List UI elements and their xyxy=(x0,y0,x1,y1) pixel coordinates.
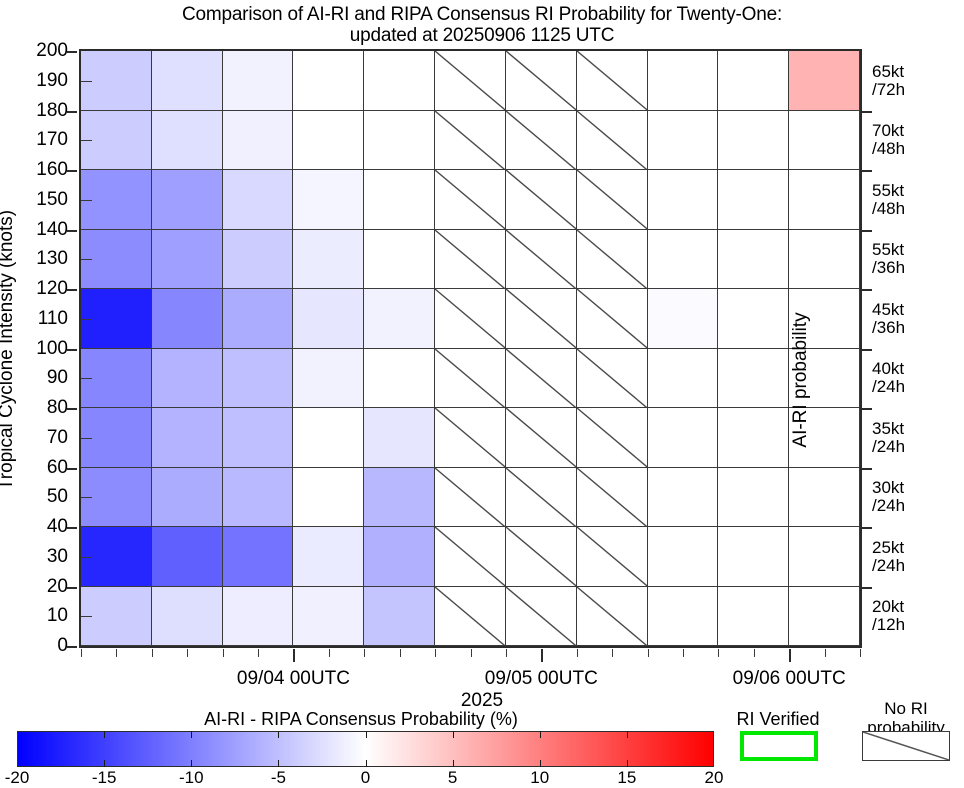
y-axis-tick-label: 190 xyxy=(36,70,68,92)
x-axis-minor-tick xyxy=(577,649,578,657)
heatmap-cell xyxy=(152,51,223,111)
x-axis-major-tick xyxy=(541,649,543,662)
heatmap-cell xyxy=(152,468,223,528)
y-axis-tick-label: 60 xyxy=(47,457,68,479)
heatmap-cell xyxy=(577,468,648,528)
diagonal-hatch-icon xyxy=(506,468,577,528)
heatmap-cell xyxy=(648,468,719,528)
heatmap-cell xyxy=(364,408,435,468)
heatmap-cell xyxy=(577,587,648,647)
y-axis-tick-label: 180 xyxy=(36,100,68,122)
diagonal-hatch-icon xyxy=(435,408,506,468)
y-axis-tick-label: 110 xyxy=(38,308,68,330)
heatmap-cells-container xyxy=(81,51,860,646)
heatmap-cell xyxy=(293,51,364,111)
y-axis-minor-tick xyxy=(81,81,92,82)
heatmap-cell xyxy=(577,170,648,230)
y-axis-tick-label: 90 xyxy=(47,367,68,389)
ri-verified-swatch xyxy=(740,731,818,761)
colorbar-tick-labels: -20-15-10-505101520 xyxy=(0,768,964,788)
heatmap-cell xyxy=(577,289,648,349)
chart-title-line1: Comparison of AI-RI and RIPA Consensus R… xyxy=(0,4,964,25)
heatmap-cell xyxy=(223,230,294,290)
heatmap-cell xyxy=(223,349,294,409)
y-axis-minor-tick xyxy=(81,616,92,617)
x-axis-minor-tick xyxy=(223,649,224,657)
diagonal-hatch-icon xyxy=(506,349,577,409)
heatmap-cell xyxy=(293,349,364,409)
heatmap-cell xyxy=(718,170,789,230)
right-axis-tick-label: 35kt/24h xyxy=(872,420,905,456)
heatmap-cell xyxy=(435,51,506,111)
heatmap-cell xyxy=(364,587,435,647)
heatmap-cell xyxy=(577,527,648,587)
heatmap-cell xyxy=(648,111,719,171)
diagonal-hatch-icon xyxy=(577,349,648,409)
y-axis-major-tick xyxy=(67,349,77,351)
heatmap-cell xyxy=(506,111,577,171)
right-axis-tick-label: 70kt/48h xyxy=(872,122,905,158)
y-axis-major-tick xyxy=(67,111,77,113)
right-axis-tick-kt: 65kt xyxy=(872,63,905,81)
heatmap-cell xyxy=(364,349,435,409)
colorbar-tick-label: 15 xyxy=(617,768,636,788)
right-axis-tick-label: 45kt/36h xyxy=(872,301,905,337)
heatmap-cell xyxy=(789,587,860,647)
diagonal-hatch-icon xyxy=(435,587,506,647)
x-axis-minor-tick xyxy=(364,649,365,657)
x-axis-minor-tick xyxy=(116,649,117,657)
heatmap-cell xyxy=(364,230,435,290)
heatmap-cell xyxy=(364,51,435,111)
diagonal-hatch-icon xyxy=(577,51,648,111)
y-axis-tick-label: 170 xyxy=(36,129,68,151)
colorbar-tick-label: -20 xyxy=(5,768,30,788)
heatmap-cell xyxy=(223,408,294,468)
x-axis-tick-label: 09/05 00UTC xyxy=(485,668,598,690)
heatmap-cell xyxy=(364,170,435,230)
diagonal-hatch-icon xyxy=(577,170,648,230)
right-axis-tick-label: 40kt/24h xyxy=(872,360,905,396)
heatmap-cell xyxy=(152,230,223,290)
heatmap-cell xyxy=(506,349,577,409)
heatmap-cell xyxy=(789,170,860,230)
x-axis-minor-tick xyxy=(648,649,649,657)
diagonal-hatch-icon xyxy=(506,527,577,587)
y-axis-major-tick xyxy=(67,51,77,53)
x-axis-minor-tick xyxy=(718,649,719,657)
heatmap-cell xyxy=(506,587,577,647)
right-axis-tick-kt: 70kt xyxy=(872,122,905,140)
right-axis-tick-label: 55kt/48h xyxy=(872,182,905,218)
right-axis-tick-kt: 45kt xyxy=(872,301,905,319)
no-ri-probability-swatch xyxy=(862,731,950,761)
right-axis-tick-kt: 40kt xyxy=(872,360,905,378)
x-axis-minor-tick xyxy=(506,649,507,657)
heatmap-cell xyxy=(506,468,577,528)
right-axis-tick-kt: 30kt xyxy=(872,479,905,497)
x-axis-major-tick xyxy=(789,649,791,662)
diagonal-hatch-icon xyxy=(435,527,506,587)
x-axis-minor-tick xyxy=(435,649,436,657)
colorbar-tick-label: -10 xyxy=(179,768,204,788)
diagonal-hatch-icon xyxy=(435,170,506,230)
heatmap-cell xyxy=(648,527,719,587)
heatmap-cell xyxy=(648,230,719,290)
y-axis-major-tick xyxy=(67,587,77,589)
heatmap-cell xyxy=(648,170,719,230)
heatmap-cell xyxy=(506,527,577,587)
x-axis-ticks xyxy=(79,649,862,665)
x-axis-minor-tick xyxy=(187,649,188,657)
heatmap-cell xyxy=(506,51,577,111)
heatmap-cell xyxy=(293,111,364,171)
colorbar-tick-label: 0 xyxy=(361,768,370,788)
right-axis-tick-kt: 20kt xyxy=(872,598,905,616)
right-axis-tick-label: 55kt/36h xyxy=(872,241,905,277)
heatmap-cell xyxy=(789,111,860,171)
heatmap-cell xyxy=(223,170,294,230)
heatmap-cell xyxy=(435,468,506,528)
heatmap-cell xyxy=(364,527,435,587)
y-axis-minor-tick xyxy=(81,438,92,439)
heatmap-cell xyxy=(435,289,506,349)
right-axis-tick-mark xyxy=(862,170,872,172)
right-axis-tick-hr: /24h xyxy=(872,557,905,575)
x-axis-minor-tick xyxy=(81,649,82,657)
y-axis-minor-tick xyxy=(81,140,92,141)
heatmap-cell xyxy=(718,349,789,409)
colorbar-tick-label: 5 xyxy=(448,768,457,788)
y-axis-tick-label: 10 xyxy=(47,605,68,627)
right-axis-tick-hr: /36h xyxy=(872,259,905,277)
y-axis-major-tick xyxy=(67,646,77,648)
heatmap-cell xyxy=(506,408,577,468)
heatmap-cell xyxy=(718,111,789,171)
heatmap-cell xyxy=(718,289,789,349)
heatmap-cell xyxy=(718,51,789,111)
right-axis-tick-kt: 55kt xyxy=(872,182,905,200)
y-axis-tick-label: 130 xyxy=(36,248,68,270)
diagonal-hatch-icon xyxy=(506,289,577,349)
y-axis-major-tick xyxy=(67,289,77,291)
y-axis-minor-tick xyxy=(81,557,92,558)
heatmap-cell xyxy=(506,230,577,290)
heatmap-cell xyxy=(435,408,506,468)
y-axis-major-tick xyxy=(67,230,77,232)
heatmap-cell xyxy=(435,527,506,587)
heatmap-cell xyxy=(293,527,364,587)
diagonal-hatch-icon xyxy=(577,111,648,171)
heatmap-cell xyxy=(577,230,648,290)
heatmap-cell xyxy=(789,51,860,111)
heatmap-cell xyxy=(435,170,506,230)
heatmap-cell xyxy=(648,587,719,647)
no-ri-label-line1: No RI xyxy=(884,699,927,718)
diagonal-hatch-icon xyxy=(435,111,506,171)
y-axis-minor-tick xyxy=(81,259,92,260)
x-axis-minor-tick xyxy=(825,649,826,657)
heatmap-cell xyxy=(223,587,294,647)
y-axis-tick-label: 50 xyxy=(47,486,68,508)
heatmap-cell xyxy=(293,587,364,647)
heatmap-cell xyxy=(648,51,719,111)
right-axis-tick-mark xyxy=(862,111,872,113)
heatmap-cell xyxy=(152,408,223,468)
y-axis-tick-label: 120 xyxy=(36,278,68,300)
heatmap-cell xyxy=(293,170,364,230)
right-axis-tick-hr: /48h xyxy=(872,140,905,158)
x-axis-minor-tick xyxy=(329,649,330,657)
heatmap-cell xyxy=(718,468,789,528)
diagonal-hatch-icon xyxy=(577,527,648,587)
right-axis-tick-hr: /72h xyxy=(872,81,905,99)
x-axis-minor-tick xyxy=(612,649,613,657)
heatmap-cell xyxy=(789,527,860,587)
right-axis-tick-mark xyxy=(862,468,872,470)
right-axis-tick-mark xyxy=(862,408,872,410)
heatmap-cell xyxy=(577,408,648,468)
y-axis-minor-tick xyxy=(81,200,92,201)
x-axis-minor-tick xyxy=(754,649,755,657)
y-axis-major-tick xyxy=(67,468,77,470)
right-axis-tick-label: 30kt/24h xyxy=(872,479,905,515)
right-axis-tick-kt: 25kt xyxy=(872,539,905,557)
heatmap-cell xyxy=(718,230,789,290)
diagonal-hatch-icon xyxy=(506,230,577,290)
right-axis-tick-kt: 35kt xyxy=(872,420,905,438)
right-axis-tick-label: 25kt/24h xyxy=(872,539,905,575)
heatmap-cell xyxy=(577,349,648,409)
y-axis-tick-label: 70 xyxy=(47,427,68,449)
y-axis-major-tick xyxy=(67,408,77,410)
right-axis-tick-label: 20kt/12h xyxy=(872,598,905,634)
y-axis-minor-tick xyxy=(81,378,92,379)
right-axis-tick-mark xyxy=(862,587,872,589)
heatmap-cell xyxy=(364,468,435,528)
y-axis-tick-label: 30 xyxy=(47,546,68,568)
diagonal-hatch-icon xyxy=(506,111,577,171)
colorbar-tick-label: -5 xyxy=(271,768,286,788)
right-axis-tick-hr: /24h xyxy=(872,497,905,515)
diagonal-hatch-icon xyxy=(435,51,506,111)
right-axis-tick-kt: 55kt xyxy=(872,241,905,259)
heatmap-cell xyxy=(364,289,435,349)
diagonal-hatch-icon xyxy=(506,587,577,647)
heatmap-cell xyxy=(718,587,789,647)
colorbar-title: AI-RI - RIPA Consensus Probability (%) xyxy=(0,709,722,730)
diagonal-hatch-icon xyxy=(863,732,949,760)
y-axis-tick-label: 80 xyxy=(47,397,68,419)
heatmap-cell xyxy=(648,289,719,349)
diagonal-hatch-icon xyxy=(506,51,577,111)
y-axis-tick-label: 150 xyxy=(36,189,68,211)
colorbar-tick-label: 20 xyxy=(705,768,724,788)
diagonal-hatch-icon xyxy=(577,230,648,290)
heatmap-cell xyxy=(293,468,364,528)
right-axis-tick-label: 65kt/72h xyxy=(872,63,905,99)
diagonal-hatch-icon xyxy=(435,468,506,528)
y-axis-tick-label: 140 xyxy=(36,219,68,241)
y-axis-minor-tick xyxy=(81,319,92,320)
right-axis-tick-mark xyxy=(862,289,872,291)
x-axis-minor-tick xyxy=(152,649,153,657)
diagonal-hatch-icon xyxy=(577,587,648,647)
heatmap-cell xyxy=(152,527,223,587)
heatmap-cell xyxy=(435,587,506,647)
heatmap-cell xyxy=(364,111,435,171)
heatmap-cell xyxy=(718,527,789,587)
diagonal-hatch-icon xyxy=(577,289,648,349)
heatmap-cell xyxy=(223,527,294,587)
heatmap-cell xyxy=(152,349,223,409)
y-axis-major-tick xyxy=(67,527,77,529)
heatmap-cell xyxy=(435,349,506,409)
colorbar-tick-label: 10 xyxy=(530,768,549,788)
heatmap-cell xyxy=(152,289,223,349)
right-axis-title: AI-RI probability xyxy=(790,230,812,530)
right-axis-tick-mark xyxy=(862,230,872,232)
heatmap-cell xyxy=(223,468,294,528)
heatmap-cell xyxy=(293,408,364,468)
colorbar-tick-label: -15 xyxy=(92,768,117,788)
diagonal-hatch-icon xyxy=(435,289,506,349)
diagonal-hatch-icon xyxy=(577,468,648,528)
diagonal-hatch-icon xyxy=(577,408,648,468)
y-axis-tick-label: 200 xyxy=(36,40,68,62)
right-axis-tick-hr: /36h xyxy=(872,319,905,337)
x-axis-tick-label: 09/04 00UTC xyxy=(237,668,350,690)
diagonal-hatch-icon xyxy=(506,170,577,230)
heatmap-plot-area xyxy=(79,49,862,648)
y-axis-tick-label: 40 xyxy=(47,516,68,538)
ri-verified-label: RI Verified xyxy=(718,709,838,730)
heatmap-cell xyxy=(506,170,577,230)
heatmap-cell xyxy=(152,111,223,171)
right-axis-tick-hr: /48h xyxy=(872,200,905,218)
right-axis-tick-hr: /24h xyxy=(872,378,905,396)
y-axis-minor-tick xyxy=(81,497,92,498)
right-axis-tick-mark xyxy=(862,527,872,529)
diagonal-hatch-icon xyxy=(435,349,506,409)
heatmap-cell xyxy=(223,289,294,349)
heatmap-cell xyxy=(435,111,506,171)
heatmap-cell xyxy=(293,230,364,290)
right-axis-tick-hr: /24h xyxy=(872,438,905,456)
x-axis-minor-tick xyxy=(400,649,401,657)
x-axis-minor-tick xyxy=(471,649,472,657)
x-axis-major-tick xyxy=(293,649,295,662)
colorbar-gradient xyxy=(17,731,714,767)
x-axis-minor-tick xyxy=(683,649,684,657)
y-axis-tick-label: 20 xyxy=(47,576,68,598)
heatmap-cell xyxy=(152,170,223,230)
right-axis-tick-hr: /12h xyxy=(872,616,905,634)
heatmap-cell xyxy=(648,349,719,409)
diagonal-hatch-icon xyxy=(435,230,506,290)
heatmap-cell xyxy=(718,408,789,468)
chart-title: Comparison of AI-RI and RIPA Consensus R… xyxy=(0,4,964,46)
heatmap-cell xyxy=(648,408,719,468)
heatmap-cell xyxy=(223,111,294,171)
heatmap-cell xyxy=(223,51,294,111)
heatmap-cell xyxy=(577,51,648,111)
heatmap-cell xyxy=(506,289,577,349)
y-axis-tick-label: 100 xyxy=(36,338,68,360)
x-axis-minor-tick xyxy=(258,649,259,657)
heatmap-cell xyxy=(577,111,648,171)
diagonal-hatch-icon xyxy=(506,408,577,468)
right-axis-tick-mark xyxy=(862,349,872,351)
heatmap-cell xyxy=(152,587,223,647)
y-axis-tick-label: 160 xyxy=(36,159,68,181)
heatmap-cell xyxy=(435,230,506,290)
x-axis-tick-label: 09/06 00UTC xyxy=(733,668,846,690)
chart-title-line2: updated at 20250906 1125 UTC xyxy=(0,25,964,46)
x-axis-minor-tick xyxy=(860,649,861,657)
y-axis-major-tick xyxy=(67,170,77,172)
heatmap-cell xyxy=(293,289,364,349)
